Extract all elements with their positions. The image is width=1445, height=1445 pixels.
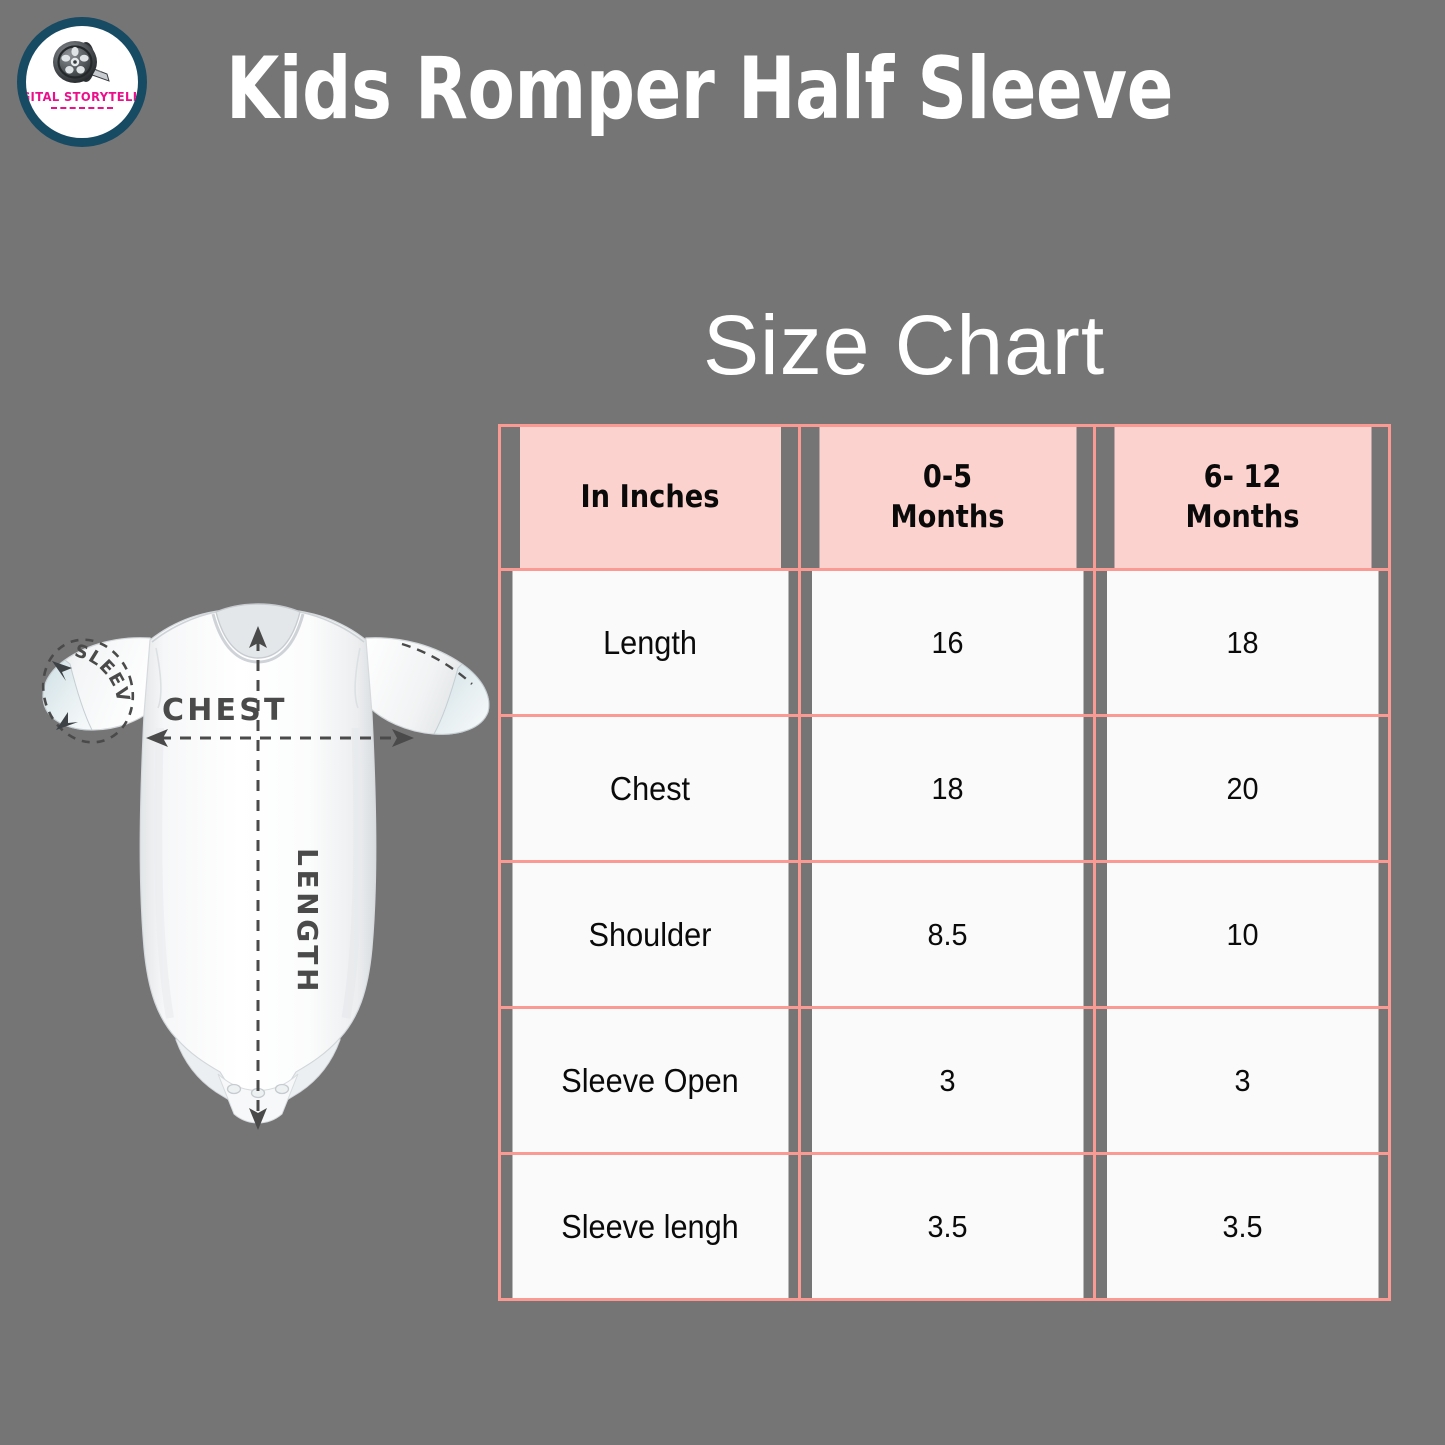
header-size-6-12-line2: Months: [1114, 498, 1371, 538]
header-measure-line1: In Inches: [519, 478, 780, 518]
row-measure-chest: Chest: [510, 716, 789, 862]
chest-arrow-right: [392, 729, 414, 747]
row-shoulder-size-0-5: 8.5: [810, 862, 1084, 1008]
header-cell-size-0-5: 0-5 Months: [817, 426, 1077, 570]
table-header-row: In Inches 0-5 Months 6- 12 Months: [500, 426, 1390, 570]
size-chart-table: In Inches 0-5 Months 6- 12 Months Length…: [498, 424, 1391, 1301]
header-cell-size-6-12: 6- 12 Months: [1112, 426, 1372, 570]
row-sleeve-length-size-6-12: 3.5: [1105, 1154, 1379, 1300]
row-length-size-6-12: 18: [1105, 570, 1379, 716]
row-sleeve-length-size-0-5: 3.5: [810, 1154, 1084, 1300]
romper-illustration: CHEST LENGTH SLEEVE OPEN: [10, 548, 510, 1168]
row-measure-sleeve-length: Sleeve lengh: [510, 1154, 789, 1300]
header-size-0-5-line2: Months: [819, 498, 1076, 538]
film-reel-icon: [51, 40, 113, 88]
table-row: Sleeve Open 3 3: [500, 1008, 1390, 1154]
chest-label: CHEST: [162, 693, 288, 728]
size-chart-heading: Size Chart: [703, 303, 1105, 387]
row-sleeve-open-size-0-5: 3: [810, 1008, 1084, 1154]
table-row: Shoulder 8.5 10: [500, 862, 1390, 1008]
table-row: Length 16 18: [500, 570, 1390, 716]
row-sleeve-open-size-6-12: 3: [1105, 1008, 1379, 1154]
logo-wordmark: DIGITAL STORYTELLER: [17, 90, 147, 105]
romper-diagram-svg: CHEST LENGTH SLEEVE OPEN: [10, 548, 510, 1168]
header-size-6-12-line1: 6- 12: [1114, 458, 1371, 498]
row-length-size-0-5: 16: [810, 570, 1084, 716]
row-chest-size-6-12: 20: [1105, 716, 1379, 862]
header-size-0-5-line1: 0-5: [819, 458, 1076, 498]
brand-logo: DIGITAL STORYTELLER: [17, 17, 147, 147]
table-row: Chest 18 20: [500, 716, 1390, 862]
row-measure-sleeve-open: Sleeve Open: [510, 1008, 789, 1154]
length-label: LENGTH: [291, 848, 324, 995]
row-measure-length: Length: [510, 570, 789, 716]
row-measure-shoulder: Shoulder: [510, 862, 789, 1008]
logo-dashed-underline: [51, 107, 113, 109]
header-cell-measure: In Inches: [518, 426, 782, 570]
page-title: Kids Romper Half Sleeve: [226, 46, 1173, 132]
table-row: Sleeve lengh 3.5 3.5: [500, 1154, 1390, 1300]
row-chest-size-0-5: 18: [810, 716, 1084, 862]
row-shoulder-size-6-12: 10: [1105, 862, 1379, 1008]
